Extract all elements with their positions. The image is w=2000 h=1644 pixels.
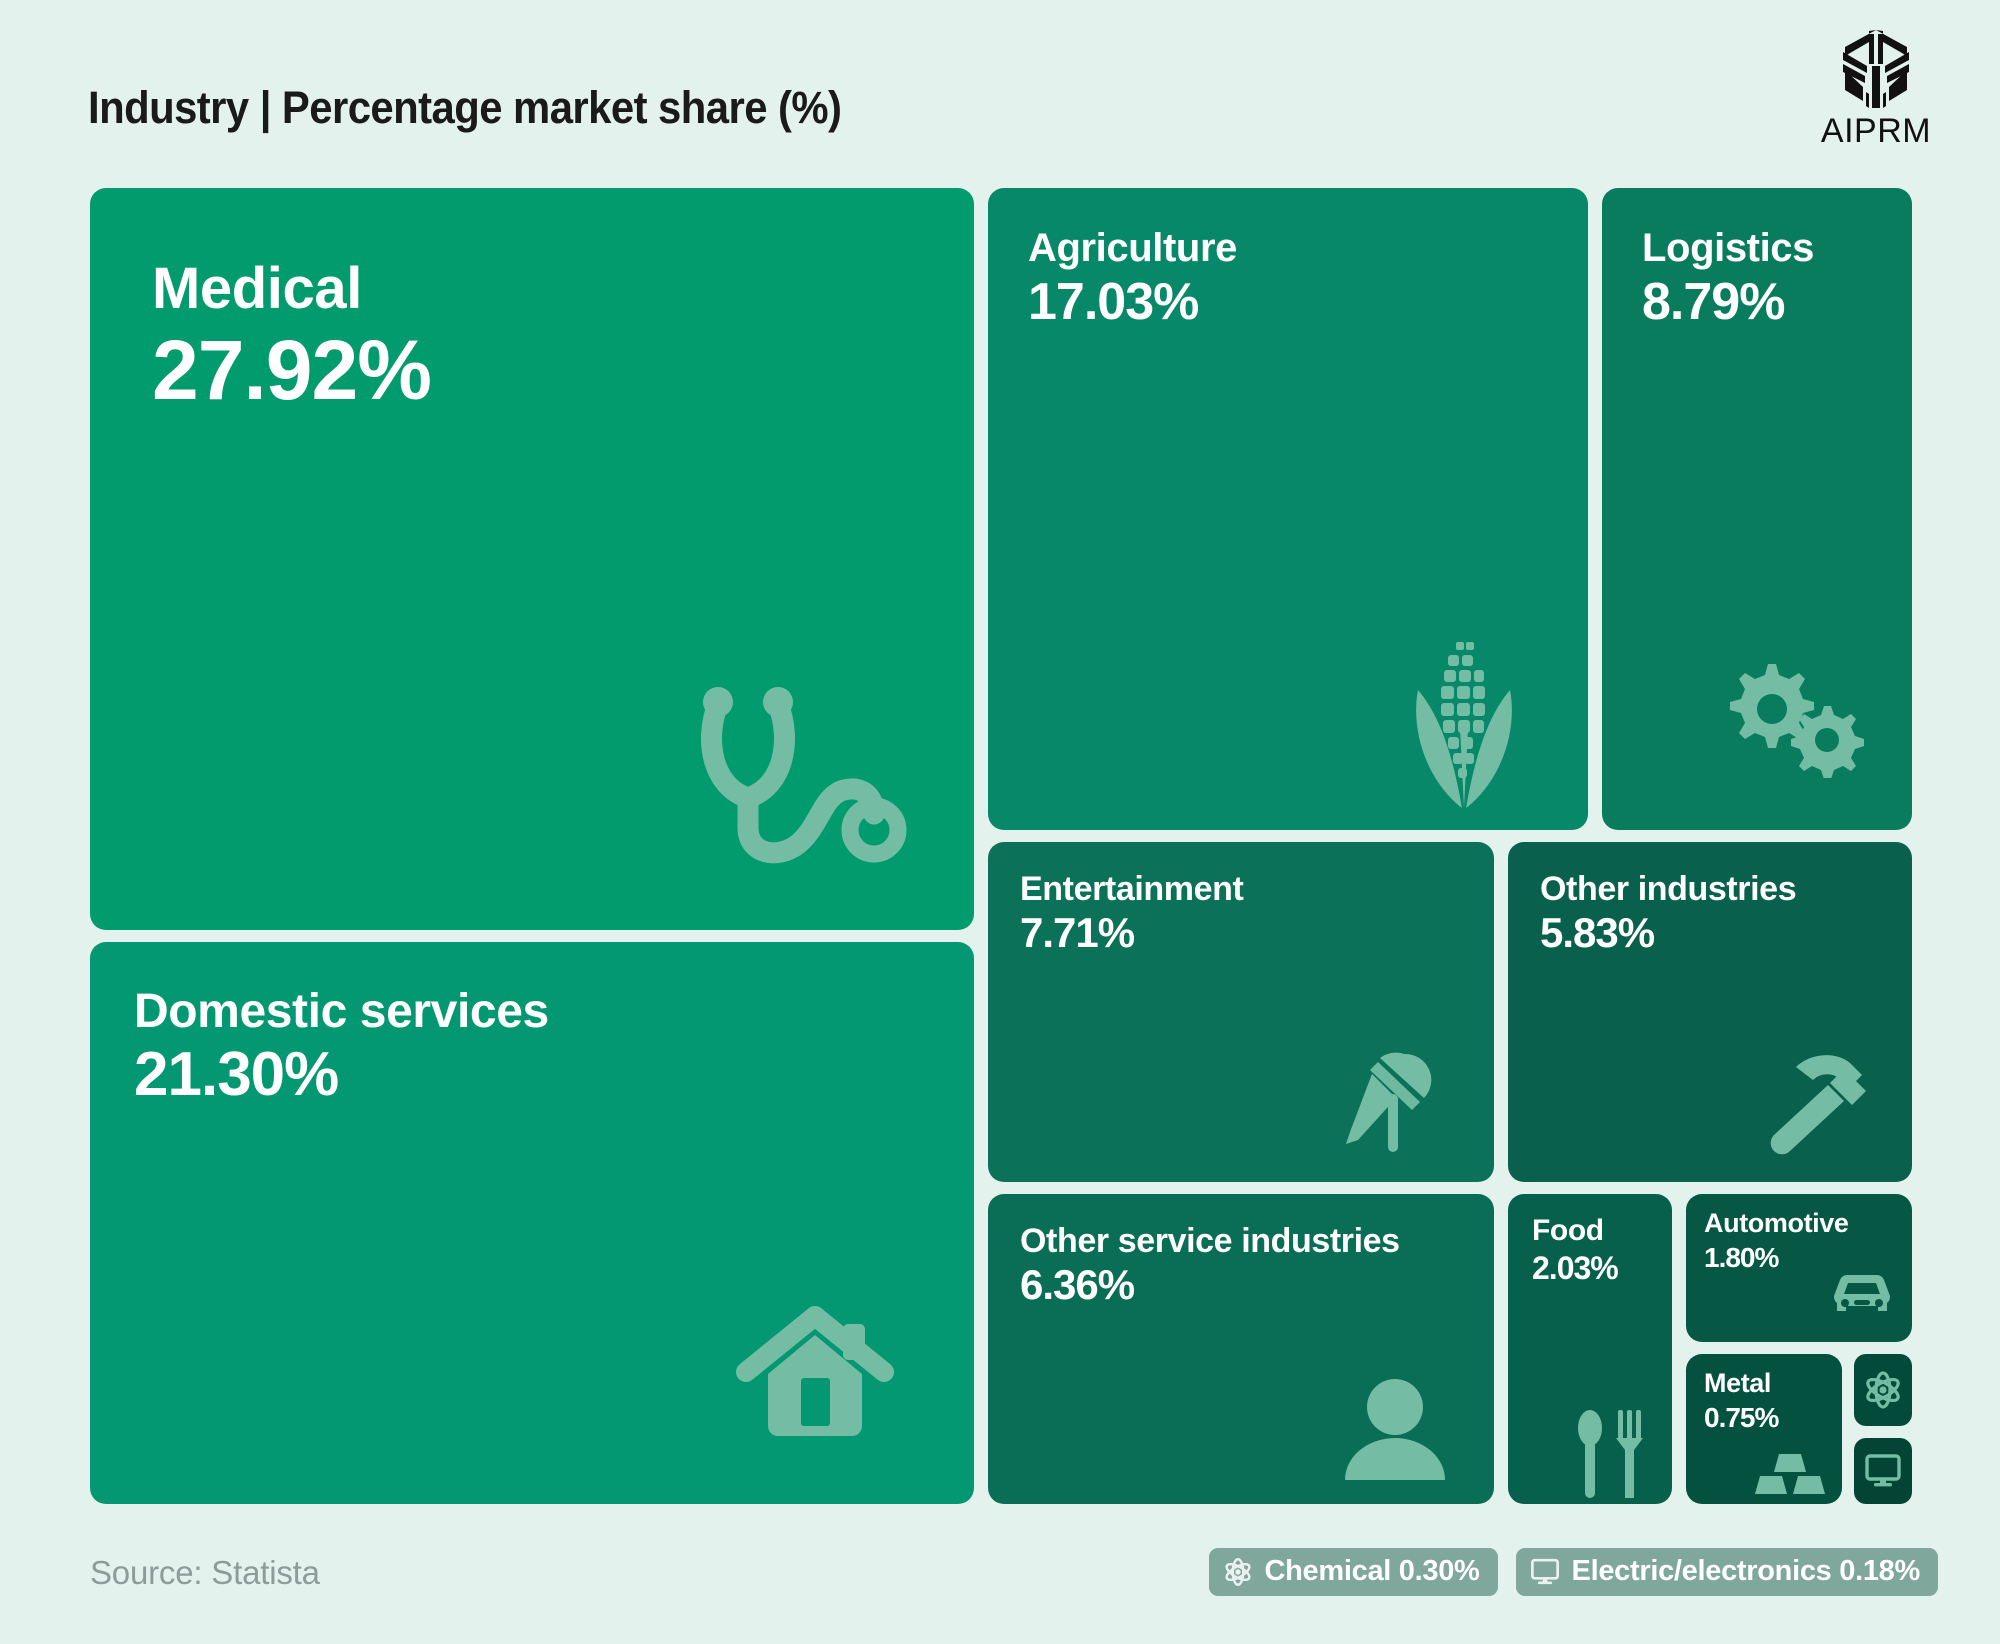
tile-label: Domestic services <box>134 988 549 1036</box>
tile-label: Metal <box>1704 1370 1771 1397</box>
legend-item-electric-electronics[interactable]: Electric/electronics 0.18% <box>1516 1548 1938 1596</box>
tile-value: 17.03% <box>1028 276 1198 328</box>
car-icon <box>1824 1270 1900 1328</box>
treemap-tile-electric-electronics[interactable] <box>1854 1438 1912 1504</box>
tile-label: Food <box>1532 1216 1604 1246</box>
legend-label: Chemical 0.30% <box>1265 1555 1480 1588</box>
treemap-tile-metal[interactable]: Metal 0.75% <box>1686 1354 1842 1504</box>
gears-icon <box>1708 648 1868 778</box>
corn-icon <box>1404 632 1524 812</box>
tile-label: Medical <box>152 260 362 318</box>
treemap-tile-chemical[interactable] <box>1854 1354 1912 1426</box>
tile-value: 0.75% <box>1704 1404 1778 1432</box>
microphone-icon <box>1334 1044 1454 1164</box>
treemap-tile-food[interactable]: Food 2.03% <box>1508 1194 1672 1504</box>
tile-label: Other industries <box>1540 872 1796 906</box>
tile-label: Logistics <box>1642 228 1814 268</box>
tile-label: Agriculture <box>1028 228 1237 268</box>
source-label: Source: Statista <box>90 1554 320 1592</box>
atom-icon <box>1223 1557 1253 1587</box>
tile-value: 27.92% <box>152 328 431 412</box>
treemap-tile-automotive[interactable]: Automotive 1.80% <box>1686 1194 1912 1342</box>
gold-bars-icon <box>1752 1450 1828 1496</box>
treemap-tile-other-industries[interactable]: Other industries 5.83% <box>1508 842 1912 1182</box>
tile-value: 5.83% <box>1540 912 1654 954</box>
tile-value: 7.71% <box>1020 912 1134 954</box>
chart-legend: Chemical 0.30% Electric/electronics 0.18… <box>1209 1548 1939 1596</box>
person-icon <box>1340 1374 1450 1484</box>
tile-value: 2.03% <box>1532 1252 1618 1284</box>
legend-label: Electric/electronics 0.18% <box>1572 1555 1920 1588</box>
atom-icon <box>1863 1370 1903 1410</box>
hammer-icon <box>1758 1045 1878 1160</box>
cutlery-icon <box>1570 1406 1650 1498</box>
treemap-tile-other-service-industries[interactable]: Other service industries 6.36% <box>988 1194 1494 1504</box>
house-icon <box>730 1302 900 1452</box>
tile-value: 1.80% <box>1704 1244 1778 1272</box>
stethoscope-icon <box>682 678 912 868</box>
treemap-tile-agriculture[interactable]: Agriculture 17.03% <box>988 188 1588 830</box>
treemap-chart: Medical 27.92% Domestic services 21.30% … <box>0 0 2000 1644</box>
treemap-tile-medical[interactable]: Medical 27.92% <box>90 188 974 930</box>
monitor-icon <box>1864 1452 1902 1490</box>
tile-value: 6.36% <box>1020 1264 1134 1306</box>
tile-label: Other service industries <box>1020 1224 1400 1258</box>
tile-value: 8.79% <box>1642 276 1784 328</box>
treemap-tile-entertainment[interactable]: Entertainment 7.71% <box>988 842 1494 1182</box>
legend-item-chemical[interactable]: Chemical 0.30% <box>1209 1548 1498 1596</box>
monitor-icon <box>1530 1557 1560 1587</box>
tile-label: Entertainment <box>1020 872 1243 906</box>
treemap-tile-logistics[interactable]: Logistics 8.79% <box>1602 188 1912 830</box>
tile-value: 21.30% <box>134 1044 338 1106</box>
tile-label: Automotive <box>1704 1210 1849 1237</box>
treemap-tile-domestic-services[interactable]: Domestic services 21.30% <box>90 942 974 1504</box>
